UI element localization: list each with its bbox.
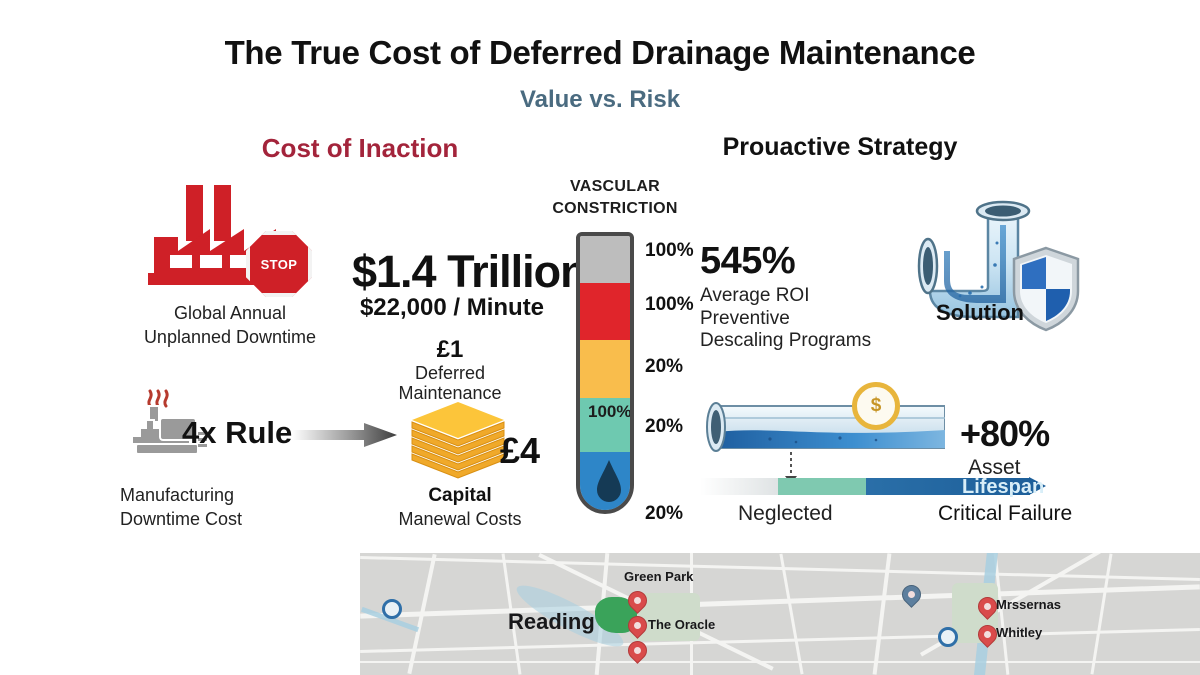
vial-segment-empty-head (580, 236, 630, 283)
infographic-canvas: The True Cost of Deferred Drainage Maint… (0, 0, 1200, 675)
transit-circle-icon (382, 599, 402, 619)
vial-segment-flow-blue (580, 452, 630, 510)
vascular-constriction-gauge: 100% (576, 232, 634, 514)
page-title: The True Cost of Deferred Drainage Maint… (0, 34, 1200, 72)
stage-neglected-label: Neglected (738, 502, 833, 526)
map-label-whitley: Whitley (996, 625, 1042, 640)
solution-label: Solution (900, 300, 1060, 326)
rule-caption-line1: Manufacturing (120, 484, 340, 507)
vial-label-4: 20% (645, 503, 683, 525)
roi-line2: Preventive (700, 308, 790, 330)
drop-connector (790, 452, 792, 478)
deferred-value: £1 (390, 336, 510, 364)
vial-label-0: 100% (645, 240, 694, 262)
map-label-the-oracle: The Oracle (648, 617, 715, 632)
dollar-coin-icon: $ (852, 382, 900, 430)
map-pin-third[interactable] (624, 637, 651, 664)
vial-title-line1: VASCULAR (540, 178, 690, 196)
transition-arrow-icon (292, 422, 397, 448)
map-label-mrssernas: Mrssernas (996, 597, 1061, 612)
factory-stop-icon: STOP (148, 185, 308, 295)
vial-label-3: 20% (645, 416, 683, 438)
capital-caption-line2: Manewal Costs (375, 508, 545, 531)
page-subtitle: Value vs. Risk (0, 86, 1200, 114)
roi-headline: 545% (700, 240, 795, 283)
stage-critical-failure-label: Critical Failure (938, 502, 1072, 526)
vial-inner-label: 100% (588, 402, 631, 422)
map-label-green-park: Green Park (624, 569, 693, 584)
vial-segment-warning-amber (580, 340, 630, 398)
downtime-caption-line1: Global Annual (120, 302, 340, 325)
downtime-headline: $1.4 Trillion (352, 246, 587, 298)
downtime-caption-line2: Unplanned Downtime (120, 326, 340, 349)
capital-multiplied-value: £4 (500, 430, 540, 472)
section-heading-proactive-strategy: Prouactive Strategy (660, 133, 1020, 162)
horizontal-pipe-icon (700, 398, 945, 456)
roi-line1: Average ROI (700, 285, 809, 307)
roi-line3: Descaling Programs (700, 330, 871, 352)
rule-caption-line2: Downtime Cost (120, 508, 340, 531)
capital-caption-line1: Capital (385, 485, 535, 507)
vial-title-line2: CONSTRICTION (535, 200, 695, 218)
vial-label-1: 100% (645, 294, 694, 316)
downtime-subline: $22,000 / Minute (352, 294, 552, 322)
location-map[interactable]: Reading Green Park The Oracle Mrssernas … (360, 553, 1200, 675)
timeline-neglected-segment (778, 478, 866, 495)
rule-label: 4x Rule (182, 415, 292, 451)
map-city-label: Reading (508, 609, 595, 635)
map-pin-blue (898, 581, 925, 608)
gold-coin-stack-icon (408, 400, 508, 482)
vial-segment-healthy-teal: 100% (580, 398, 630, 453)
section-heading-cost-of-inaction: Cost of Inaction (180, 133, 540, 164)
vial-segment-critical-red (580, 283, 630, 341)
timeline-faded-segment (700, 478, 778, 495)
transit-circle-icon-2 (938, 627, 958, 647)
lifespan-line2: Lifespan (962, 476, 1044, 499)
vial-label-2: 20% (645, 356, 683, 378)
lifespan-headline: +80% (960, 413, 1049, 455)
